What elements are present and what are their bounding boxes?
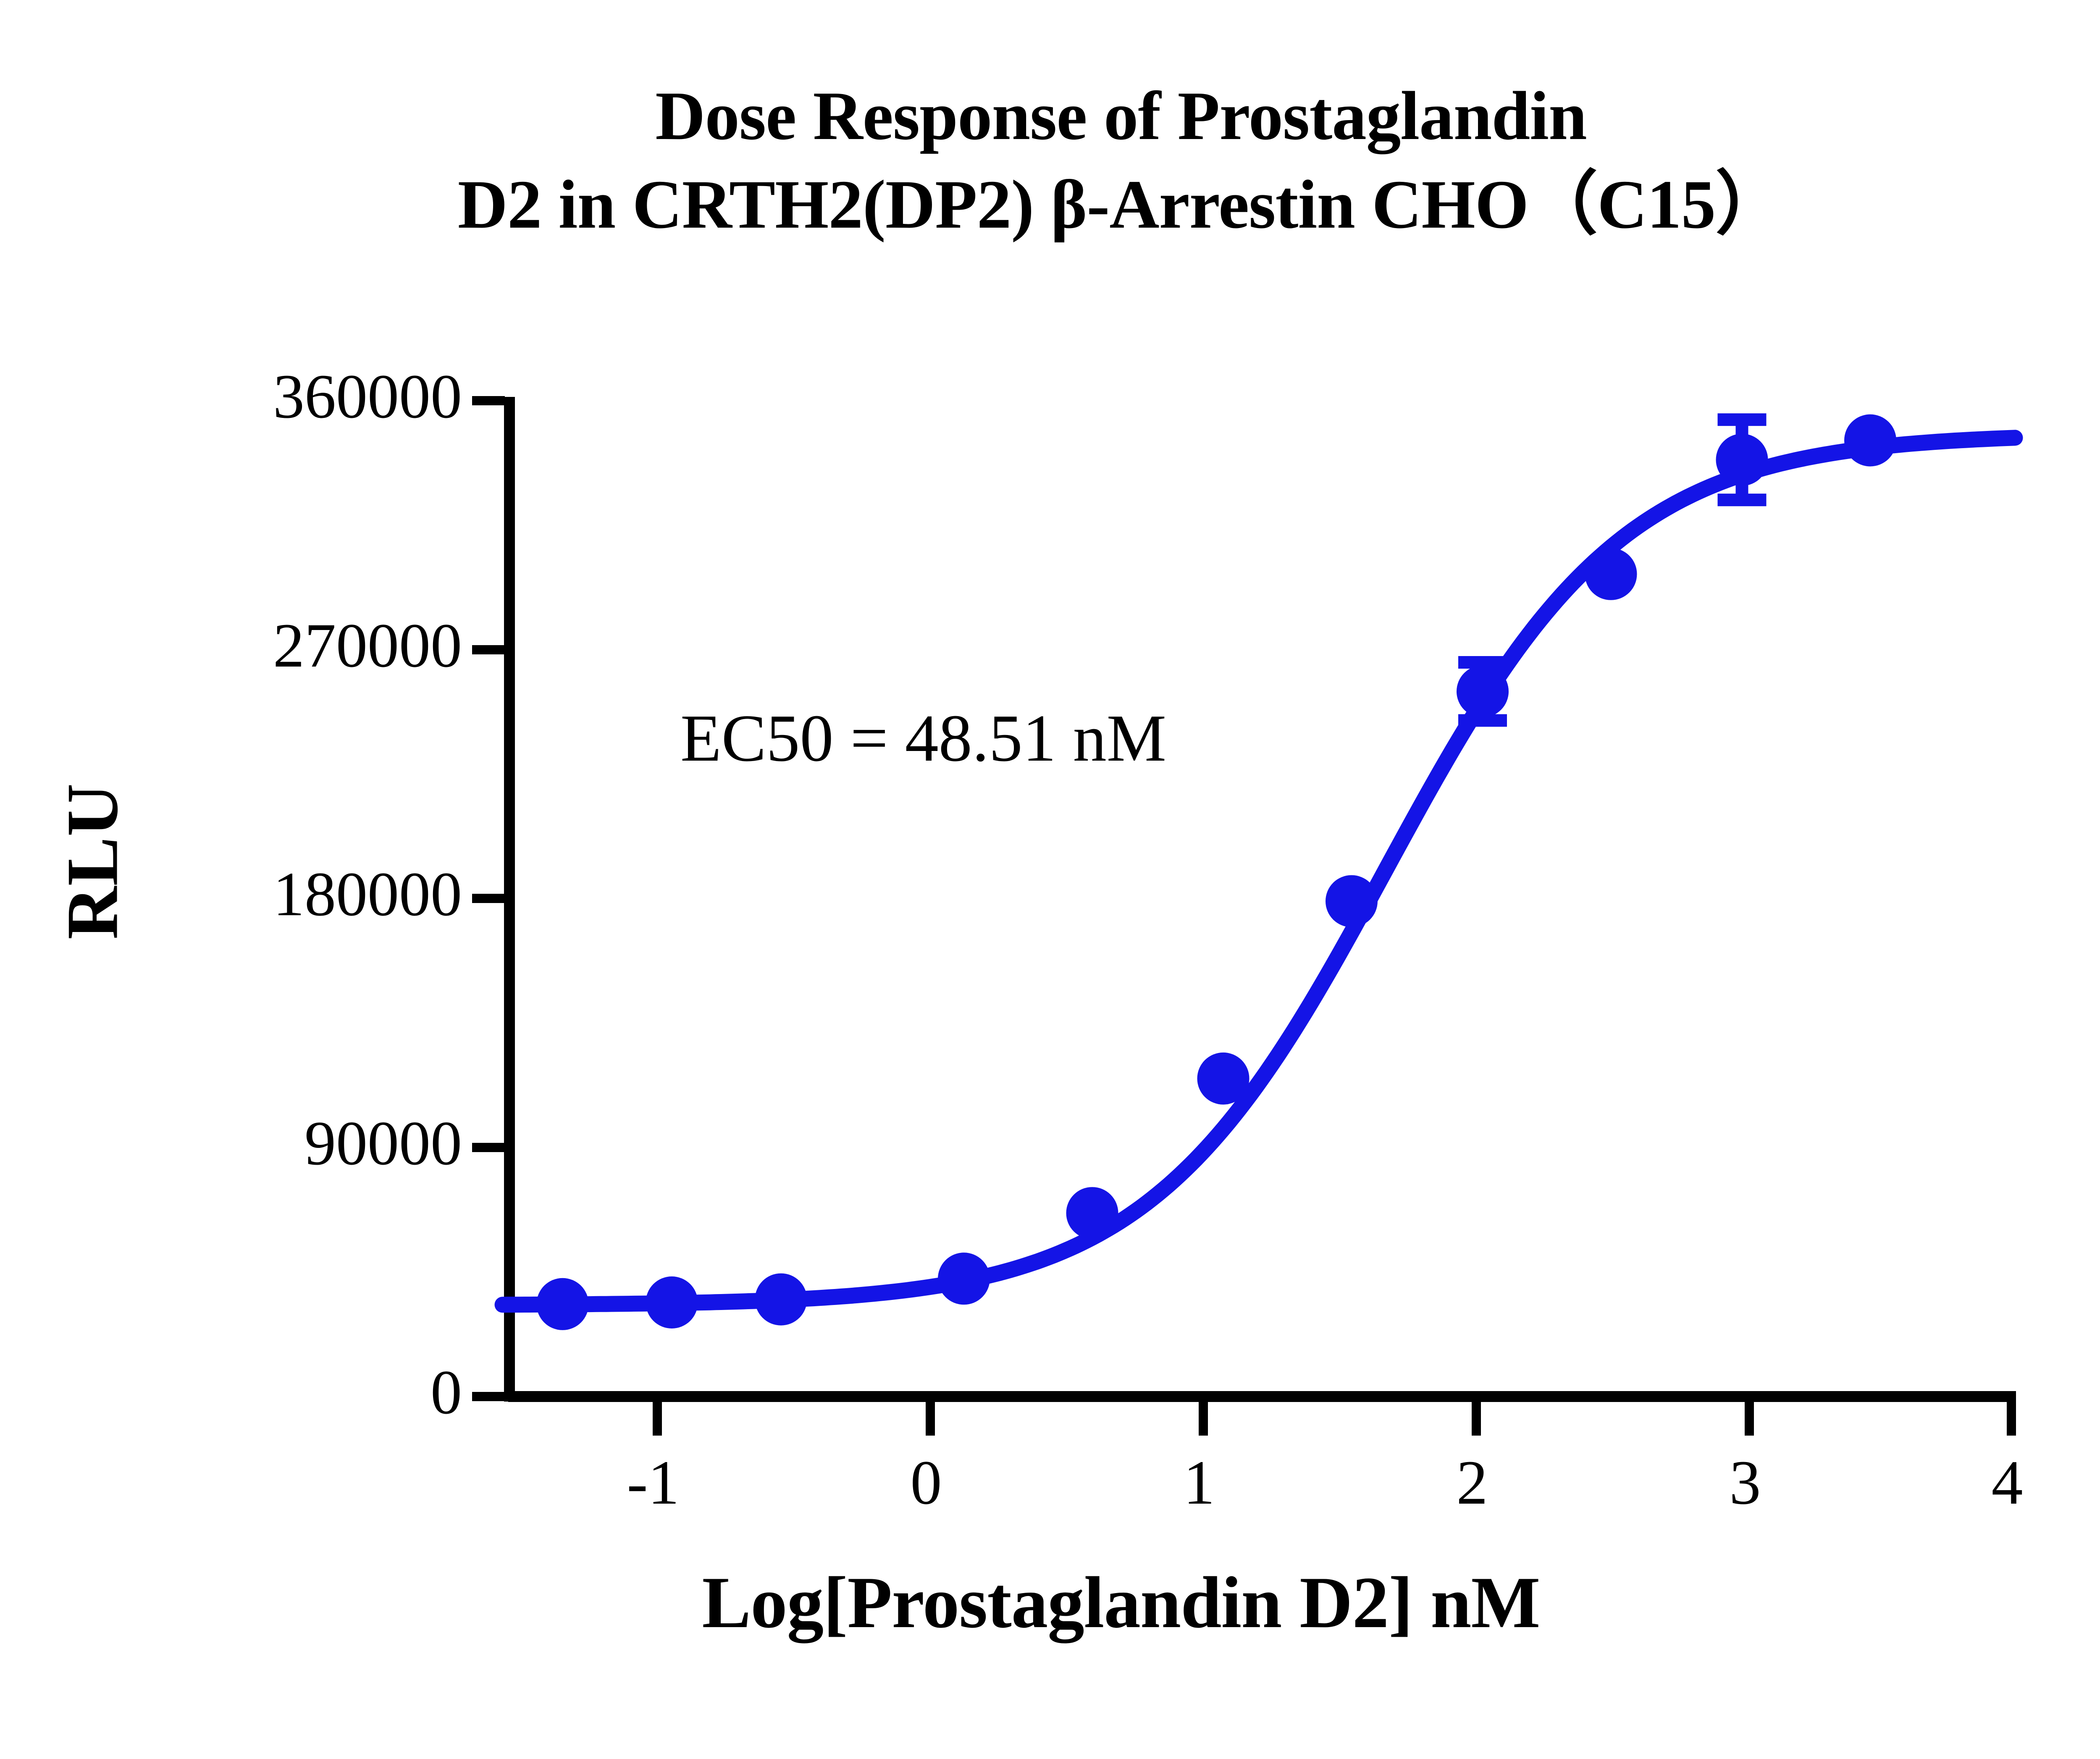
x-tick-label-4: 4 <box>1927 1451 2087 1514</box>
x-tick-mark-3 <box>1745 1402 1754 1436</box>
data-point <box>646 1276 698 1328</box>
x-tick-mark-4 <box>2007 1402 2016 1436</box>
x-tick-label-3: 3 <box>1665 1451 1825 1514</box>
y-tick-label-90000: 90000 <box>63 1112 462 1175</box>
y-tick-mark-270000 <box>472 645 505 654</box>
y-tick-label-270000: 270000 <box>63 614 462 677</box>
data-point <box>1844 415 1896 467</box>
error-bar <box>1458 662 1507 720</box>
x-tick-mark-1 <box>1199 1402 1208 1436</box>
data-point <box>1716 434 1768 486</box>
data-point <box>755 1273 807 1326</box>
data-point <box>1197 1053 1249 1105</box>
data-point <box>537 1278 589 1330</box>
error-bar <box>1718 420 1767 500</box>
chart-title-line-1: Dose Response of Prostaglandin <box>0 71 2100 160</box>
series-prostaglandin-d2 <box>503 415 2015 1330</box>
chart-figure: Dose Response of Prostaglandin D2 in CRT… <box>0 0 2100 1759</box>
data-point <box>1457 665 1509 717</box>
x-tick-label-0: 0 <box>846 1451 1006 1514</box>
x-tick-label--1: -1 <box>573 1451 733 1514</box>
data-point <box>1066 1187 1118 1239</box>
x-axis-title: Log[Prostaglandin D2] nM <box>0 1560 2100 1645</box>
data-point <box>1585 548 1637 600</box>
x-tick-mark-2 <box>1472 1402 1481 1436</box>
x-tick-mark--1 <box>653 1402 662 1436</box>
x-tick-label-1: 1 <box>1119 1451 1279 1514</box>
chart-title: Dose Response of Prostaglandin D2 in CRT… <box>0 71 2100 249</box>
data-point <box>1326 875 1378 927</box>
x-tick-label-2: 2 <box>1392 1451 1552 1514</box>
chart-title-line-2: D2 in CRTH2(DP2) β-Arrestin CHO（C15） <box>0 160 2100 249</box>
y-tick-mark-90000 <box>472 1143 505 1152</box>
y-tick-mark-360000 <box>472 396 505 405</box>
x-axis-spine <box>508 1391 2016 1402</box>
y-tick-mark-180000 <box>472 894 505 903</box>
x-tick-mark-0 <box>926 1402 935 1436</box>
data-point <box>938 1252 990 1305</box>
fit-curve <box>503 438 2015 1305</box>
y-tick-mark-0 <box>472 1392 505 1401</box>
y-axis-spine <box>504 397 515 1402</box>
y-axis-title: RLU <box>50 735 135 987</box>
y-tick-label-360000: 360000 <box>63 365 462 428</box>
y-tick-label-0: 0 <box>235 1361 462 1424</box>
ec50-annotation: EC50 = 48.51 nM <box>680 699 1166 777</box>
